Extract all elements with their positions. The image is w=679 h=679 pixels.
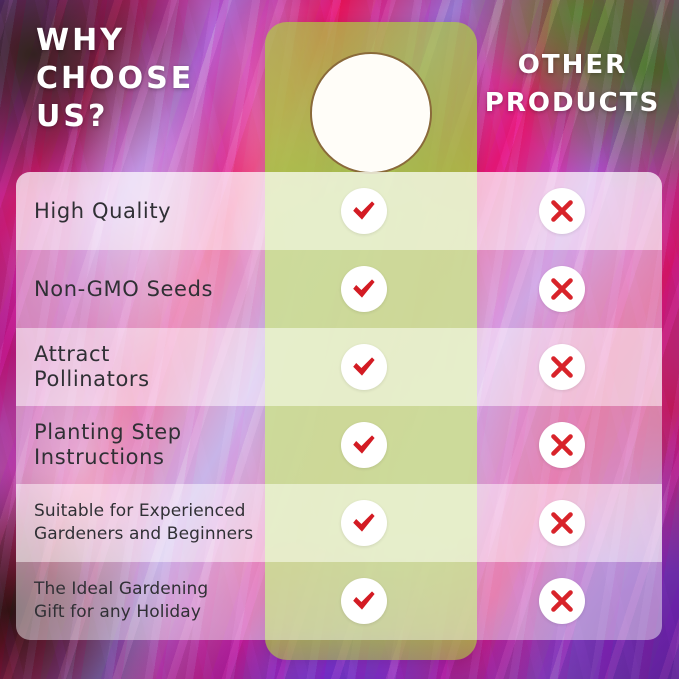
- feature-label-line: Attract: [34, 342, 265, 367]
- cell-our-product: [265, 578, 463, 624]
- check-badge: [341, 188, 387, 234]
- feature-label-line: Non-GMO Seeds: [34, 277, 265, 302]
- other-products-line-2: PRODUCTS: [470, 84, 675, 122]
- feature-label-line: Gift for any Holiday: [34, 601, 265, 624]
- cell-other-products: [463, 500, 661, 546]
- cell-other-products: [463, 188, 661, 234]
- table-row: AttractPollinators: [16, 328, 662, 406]
- feature-label-line: The Ideal Gardening: [34, 578, 265, 601]
- cross-badge: [539, 188, 585, 234]
- check-icon: [349, 508, 379, 538]
- feature-label-line: High Quality: [34, 199, 265, 224]
- cross-icon: [547, 274, 577, 304]
- feature-label: The Ideal GardeningGift for any Holiday: [16, 578, 265, 624]
- feature-label: High Quality: [16, 199, 265, 224]
- feature-label-line: Planting Step: [34, 420, 265, 445]
- table-row: High Quality: [16, 172, 662, 250]
- cross-badge: [539, 266, 585, 312]
- cross-badge: [539, 578, 585, 624]
- table-row: Non-GMO Seeds: [16, 250, 662, 328]
- feature-label: Planting StepInstructions: [16, 420, 265, 470]
- page-title-line-2: CHOOSE: [36, 60, 251, 98]
- cross-icon: [547, 430, 577, 460]
- cell-other-products: [463, 266, 661, 312]
- other-products-line-1: OTHER: [470, 46, 675, 84]
- feature-label: Suitable for ExperiencedGardeners and Be…: [16, 500, 265, 546]
- check-icon: [349, 430, 379, 460]
- feature-label: Non-GMO Seeds: [16, 277, 265, 302]
- comparison-table-rows: High QualityNon-GMO SeedsAttractPollinat…: [16, 172, 662, 640]
- cell-our-product: [265, 500, 463, 546]
- check-badge: [341, 422, 387, 468]
- check-badge: [341, 344, 387, 390]
- page-title-line-3: US?: [36, 98, 251, 136]
- check-icon: [349, 352, 379, 382]
- cross-icon: [547, 586, 577, 616]
- feature-label-line: Gardeners and Beginners: [34, 523, 265, 546]
- column-header-other-products: OTHER PRODUCTS: [470, 46, 675, 122]
- cell-our-product: [265, 266, 463, 312]
- page-title-line-1: WHY: [36, 22, 251, 60]
- cell-other-products: [463, 422, 661, 468]
- cell-our-product: [265, 422, 463, 468]
- check-badge: [341, 266, 387, 312]
- page-title-why-choose-us: WHY CHOOSE US?: [36, 22, 251, 136]
- cell-our-product: [265, 188, 463, 234]
- cross-icon: [547, 196, 577, 226]
- feature-label-line: Suitable for Experienced: [34, 500, 265, 523]
- feature-label-line: Instructions: [34, 445, 265, 470]
- check-icon: [349, 274, 379, 304]
- cross-icon: [547, 508, 577, 538]
- check-badge: [341, 578, 387, 624]
- table-row: The Ideal GardeningGift for any Holiday: [16, 562, 662, 640]
- feature-label: AttractPollinators: [16, 342, 265, 392]
- comparison-infographic: WHY CHOOSE US? OTHER PRODUCTS High Quali…: [0, 0, 679, 679]
- table-row: Planting StepInstructions: [16, 406, 662, 484]
- cell-other-products: [463, 344, 661, 390]
- cross-badge: [539, 500, 585, 546]
- logo-placeholder-circle-icon: [310, 52, 432, 174]
- table-row: Suitable for ExperiencedGardeners and Be…: [16, 484, 662, 562]
- comparison-table: High QualityNon-GMO SeedsAttractPollinat…: [16, 172, 662, 640]
- cell-other-products: [463, 578, 661, 624]
- cross-badge: [539, 344, 585, 390]
- feature-label-line: Pollinators: [34, 367, 265, 392]
- cross-icon: [547, 352, 577, 382]
- cross-badge: [539, 422, 585, 468]
- check-icon: [349, 586, 379, 616]
- cell-our-product: [265, 344, 463, 390]
- check-icon: [349, 196, 379, 226]
- check-badge: [341, 500, 387, 546]
